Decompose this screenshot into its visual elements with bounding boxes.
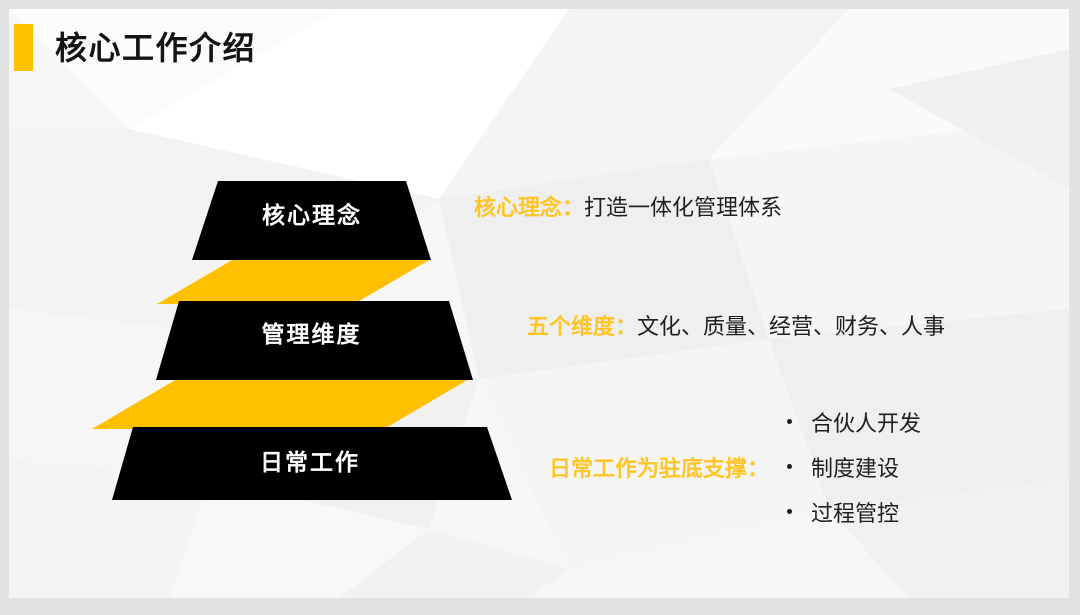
- detail-row-five-dimensions: 五个维度：文化、质量、经营、财务、人事: [527, 309, 945, 341]
- bullet-dot-icon: [787, 464, 792, 469]
- slide-canvas: 核心工作介绍 核心理念 管理维度 日常工作 核心理念：打造一体化管理体系 五个维…: [9, 9, 1069, 598]
- detail-row-1-key: 核心理念：: [474, 195, 584, 220]
- details-column: 核心理念：打造一体化管理体系 五个维度：文化、质量、经营、财务、人事 日常工作为…: [9, 9, 1069, 598]
- list-item: 制度建设: [787, 444, 921, 489]
- detail-row-3-key: 日常工作为驻底支撑：: [549, 451, 769, 483]
- list-item: 合伙人开发: [787, 399, 921, 444]
- list-item-label: 制度建设: [811, 451, 899, 483]
- bullet-dot-icon: [787, 419, 792, 424]
- bullet-dot-icon: [787, 509, 792, 514]
- detail-row-2-key: 五个维度：: [527, 314, 637, 339]
- detail-row-1-value: 打造一体化管理体系: [584, 195, 782, 220]
- detail-row-2-value: 文化、质量、经营、财务、人事: [637, 314, 945, 339]
- daily-work-bullet-list: 合伙人开发 制度建设 过程管控: [769, 399, 921, 534]
- detail-row-core-concept: 核心理念：打造一体化管理体系: [474, 190, 782, 222]
- detail-row-daily-work: 日常工作为驻底支撑： 合伙人开发 制度建设 过程管控: [549, 399, 1009, 534]
- list-item: 过程管控: [787, 489, 921, 534]
- list-item-label: 过程管控: [811, 496, 899, 528]
- list-item-label: 合伙人开发: [811, 406, 921, 438]
